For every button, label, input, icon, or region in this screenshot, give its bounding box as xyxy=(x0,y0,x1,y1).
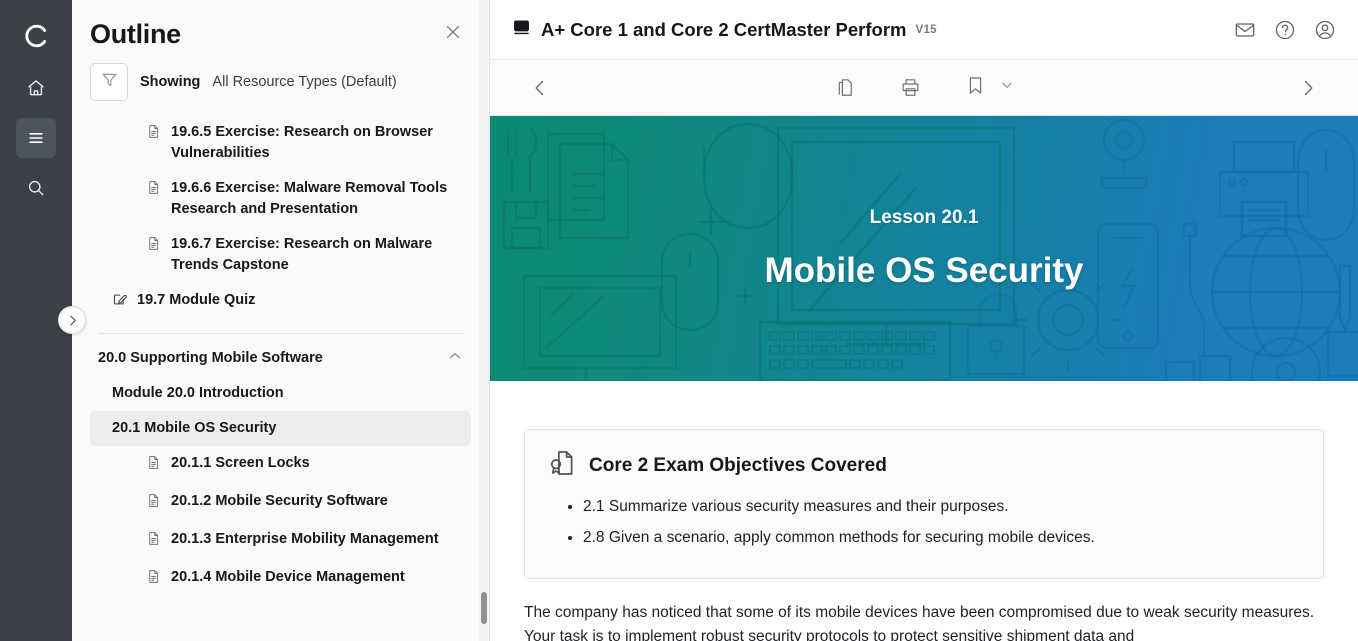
main-content: A+ Core 1 and Core 2 CertMaster Perform … xyxy=(490,0,1358,641)
sidebar-item-mobile-os-security[interactable]: 20.1 Mobile OS Security xyxy=(90,411,471,446)
list-item[interactable]: Module 20.0 Introduction xyxy=(90,376,471,411)
app-root: Outline Showing All Resource Types (Defa… xyxy=(0,0,1358,641)
list-item[interactable]: 19.6.5 Exercise: Research on Browser Vul… xyxy=(90,115,471,171)
copy-icon[interactable] xyxy=(835,77,856,98)
chevron-up-icon[interactable] xyxy=(447,348,463,368)
filter-icon xyxy=(100,70,119,94)
document-icon xyxy=(146,180,162,202)
close-icon[interactable] xyxy=(439,18,467,51)
banner-lesson-number: Lesson 20.1 xyxy=(870,207,979,229)
list-item[interactable]: 19.6.7 Exercise: Research on Malware Tre… xyxy=(90,227,471,283)
banner-pattern-icons xyxy=(490,116,1358,381)
list-item[interactable]: 20.1.3 Enterprise Mobility Management xyxy=(90,522,471,560)
list-item[interactable]: 20.1.2 Mobile Security Software xyxy=(90,484,471,522)
exam-objectives-header: Core 2 Exam Objectives Covered xyxy=(547,448,1299,483)
document-toolbar xyxy=(490,60,1358,116)
section-header-label: 20.0 Supporting Mobile Software xyxy=(98,350,323,366)
outline-panel: Outline Showing All Resource Types (Defa… xyxy=(72,0,490,641)
rail-item-search[interactable] xyxy=(16,168,56,208)
exam-objectives-box: Core 2 Exam Objectives Covered 2.1 Summa… xyxy=(524,429,1324,579)
document-title: A+ Core 1 and Core 2 CertMaster Perform xyxy=(541,19,907,41)
objective-item: 2.1 Summarize various security measures … xyxy=(583,495,1299,518)
certificate-document-icon xyxy=(547,448,577,483)
list-item-label: 20.1.1 Screen Locks xyxy=(171,453,310,474)
bookmark-icon[interactable] xyxy=(965,75,986,101)
mail-icon[interactable] xyxy=(1234,19,1256,41)
list-item-label: 20.1.4 Mobile Device Management xyxy=(171,567,405,588)
list-item[interactable]: 20.1.4 Mobile Device Management xyxy=(90,560,471,598)
document-icon xyxy=(146,236,162,258)
help-icon[interactable] xyxy=(1274,19,1296,41)
lesson-banner: Lesson 20.1 Mobile OS Security xyxy=(490,116,1358,381)
book-icon xyxy=(512,18,531,42)
list-item[interactable]: 20.1.1 Screen Locks xyxy=(90,446,471,484)
rail-item-outline[interactable] xyxy=(16,118,56,158)
list-item[interactable]: 19.7 Module Quiz xyxy=(90,283,471,321)
chevron-down-icon[interactable] xyxy=(1000,78,1014,97)
bookmark-control xyxy=(965,75,1014,101)
rail-item-home[interactable] xyxy=(16,68,56,108)
list-item-label: 19.6.6 Exercise: Malware Removal Tools R… xyxy=(171,178,463,220)
version-badge: V15 xyxy=(916,24,937,36)
document-icon xyxy=(146,124,162,146)
lesson-body-paragraph: The company has noticed that some of its… xyxy=(524,601,1324,641)
section-divider xyxy=(98,333,463,334)
list-item-label: 19.7 Module Quiz xyxy=(137,290,255,311)
list-item-label: 19.6.5 Exercise: Research on Browser Vul… xyxy=(171,122,463,164)
list-item-label: 20.1.2 Mobile Security Software xyxy=(171,491,388,512)
exam-objectives-list: 2.1 Summarize various security measures … xyxy=(583,495,1299,550)
document-icon xyxy=(146,493,162,515)
lesson-content: Core 2 Exam Objectives Covered 2.1 Summa… xyxy=(490,381,1358,641)
banner-lesson-title: Mobile OS Security xyxy=(765,251,1084,291)
prev-page-button[interactable] xyxy=(530,78,550,98)
header-actions xyxy=(1234,19,1336,41)
app-logo[interactable] xyxy=(14,14,58,58)
outline-scrollbar-thumb[interactable] xyxy=(481,592,487,624)
document-icon xyxy=(146,455,162,477)
document-header: A+ Core 1 and Core 2 CertMaster Perform … xyxy=(490,0,1358,60)
objective-item: 2.8 Given a scenario, apply common metho… xyxy=(583,526,1299,549)
filter-row: Showing All Resource Types (Default) xyxy=(72,57,489,115)
filter-button[interactable] xyxy=(90,63,128,101)
outline-scrollbar[interactable] xyxy=(479,0,489,641)
list-item-label: 20.1.3 Enterprise Mobility Management xyxy=(171,529,439,550)
next-page-button[interactable] xyxy=(1298,78,1318,98)
list-item-label: 19.6.7 Exercise: Research on Malware Tre… xyxy=(171,234,463,276)
account-icon[interactable] xyxy=(1314,19,1336,41)
filter-showing-value[interactable]: All Resource Types (Default) xyxy=(212,74,396,90)
quiz-icon xyxy=(112,292,128,314)
page-title: Outline xyxy=(90,19,181,50)
print-icon[interactable] xyxy=(900,77,921,98)
section-header-20[interactable]: 20.0 Supporting Mobile Software xyxy=(90,340,471,376)
list-item[interactable]: 19.6.6 Exercise: Malware Removal Tools R… xyxy=(90,171,471,227)
document-icon xyxy=(146,531,162,553)
exam-objectives-title: Core 2 Exam Objectives Covered xyxy=(589,455,887,477)
list-item-label: 20.1 Mobile OS Security xyxy=(112,418,276,439)
expand-panel-button[interactable] xyxy=(58,306,86,334)
outline-tree: 19.6.5 Exercise: Research on Browser Vul… xyxy=(72,115,489,641)
list-item-label: Module 20.0 Introduction xyxy=(112,383,284,404)
outline-header: Outline xyxy=(72,0,489,57)
document-icon xyxy=(146,569,162,591)
toolbar-actions xyxy=(835,75,1014,101)
filter-showing-label: Showing xyxy=(140,74,200,90)
